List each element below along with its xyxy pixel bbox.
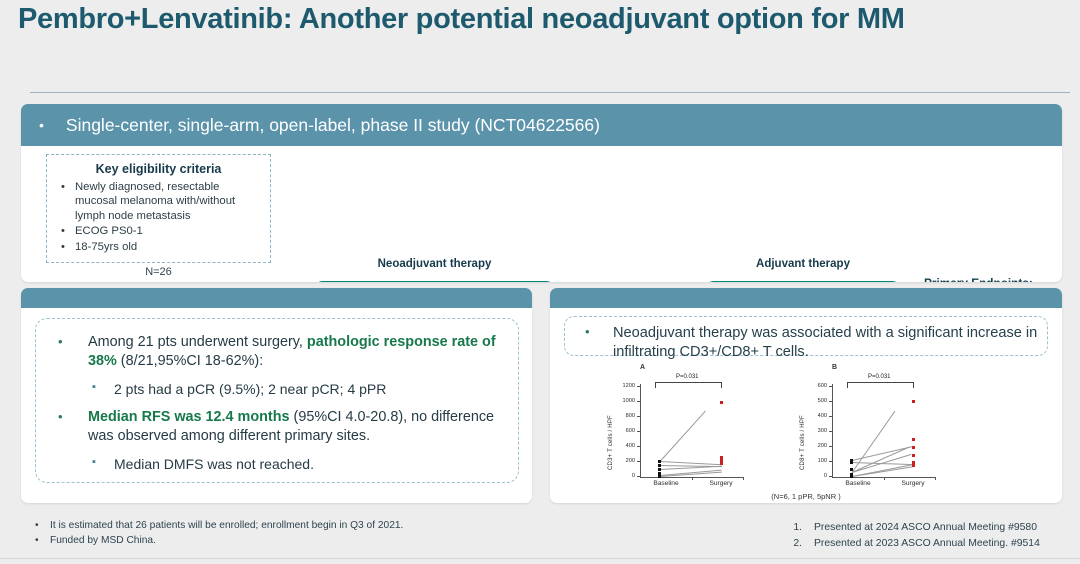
chart-cd3-scatter: CD3+ T cells / HPF 0 200 400 600 800 100…: [604, 372, 794, 500]
y-tick-label: 600: [806, 383, 827, 389]
immunohistochemistry-figure-group: A CD3+ T cells / HPF 0 200 400 600 800 1…: [556, 364, 1056, 500]
endpoints-block: Primary Endpoints: pCR Secondary Endpoin…: [924, 276, 1062, 282]
panel-accent-bar: [21, 288, 532, 308]
figure-panel-a-letter: A: [640, 364, 645, 371]
significance-bracket: [847, 382, 914, 388]
reference-text: Presented at 2023 ASCO Annual Meeting. #…: [814, 538, 1040, 549]
bottom-divider: [0, 558, 1080, 559]
list-item: 18-75yrs old: [55, 240, 262, 254]
eligibility-box: Key eligibility criteria Newly diagnosed…: [46, 154, 271, 263]
reference-number: 1.: [782, 520, 802, 536]
y-tick-label: 800: [614, 413, 635, 419]
data-point: [720, 401, 723, 404]
sample-size-label: N=26: [46, 266, 271, 278]
data-point: [720, 459, 723, 462]
y-tick-label: 1200: [614, 383, 635, 389]
bullet-icon: •: [39, 117, 44, 133]
data-point: [912, 400, 915, 403]
y-tick-label: 400: [806, 413, 827, 419]
list-item: Newly diagnosed, resectable mucosal mela…: [55, 180, 262, 223]
eligibility-list: Newly diagnosed, resectable mucosal mela…: [55, 180, 262, 254]
neoadjuvant-therapy-label: Neoadjuvant therapy: [314, 258, 555, 270]
chart-cd8-scatter: CD8+ T cells / HPF 0 100 200 300 400 500…: [796, 372, 986, 500]
reference-number: 2.: [782, 536, 802, 552]
data-point: [850, 459, 853, 462]
data-point: [912, 461, 915, 464]
clinical-results-panel: Among 21 pts underwent surgery, patholog…: [21, 288, 532, 503]
neoadjuvant-treatment-box: Pembrolizumab 200mg Q3W+ Lenvatinib 20mg…: [314, 281, 555, 282]
data-point: [850, 473, 853, 476]
results-content-box: Among 21 pts underwent surgery, patholog…: [35, 318, 519, 483]
results-bullet-list: Among 21 pts underwent surgery, patholog…: [36, 319, 518, 474]
y-tick-label: 600: [614, 428, 635, 434]
list-item: Among 21 pts underwent surgery, patholog…: [36, 333, 504, 371]
paired-link: [852, 464, 913, 477]
x-tick-label: Baseline: [644, 480, 688, 487]
y-tick-label: 0: [806, 473, 827, 479]
list-item: Median RFS was 12.4 months (95%CI 4.0-20…: [36, 408, 504, 446]
x-tick-label: Baseline: [836, 480, 880, 487]
y-tick-label: 200: [614, 458, 635, 464]
reference-text: Presented at 2024 ASCO Annual Meeting #9…: [814, 522, 1037, 533]
list-item: It is estimated that 26 patients will be…: [26, 519, 546, 534]
list-item: 1. Presented at 2024 ASCO Annual Meeting…: [782, 520, 1067, 536]
x-tickmark: [743, 478, 744, 480]
x-tickmark: [935, 478, 936, 480]
y-tick-label: 0: [614, 473, 635, 479]
biomarker-headline-box: Neoadjuvant therapy was associated with …: [564, 316, 1048, 356]
data-point: [658, 475, 661, 478]
primary-endpoints-label: Primary Endpoints:: [924, 276, 1033, 282]
figure-panel-b-letter: B: [832, 364, 837, 371]
data-point: [912, 464, 915, 467]
study-design-header: • Single-center, single-arm, open-label,…: [21, 104, 1062, 146]
y-tick-label: 500: [806, 398, 827, 404]
y-tick-label: 400: [614, 443, 635, 449]
y-axis: [832, 384, 833, 477]
adjuvant-therapy-label: Adjuvant therapy: [705, 258, 901, 270]
x-tick-label: Surgery: [699, 480, 743, 487]
list-item: 2 pts had a pCR (9.5%); 2 near pCR; 4 pP…: [36, 380, 504, 399]
y-tick-label: 200: [806, 443, 827, 449]
data-point: [720, 462, 723, 465]
data-point: [912, 446, 915, 449]
data-point: [658, 464, 661, 467]
title-divider: [30, 92, 1070, 93]
study-design-card: • Single-center, single-arm, open-label,…: [21, 104, 1062, 282]
y-tick-label: 100: [806, 458, 827, 464]
y-tick-label: 1000: [614, 398, 635, 404]
footnote-list-left: It is estimated that 26 patients will be…: [26, 519, 546, 549]
panel-accent-bar: [550, 288, 1062, 308]
reference-list: 1. Presented at 2024 ASCO Annual Meeting…: [782, 520, 1067, 551]
biomarker-headline: Neoadjuvant therapy was associated with …: [565, 317, 1047, 362]
x-tick-label: Surgery: [891, 480, 935, 487]
list-item: Median DMFS was not reached.: [36, 455, 504, 474]
result-2-highlight: Median RFS was 12.4 months: [88, 409, 290, 425]
data-point: [658, 468, 661, 471]
y-axis: [640, 384, 641, 477]
data-point: [658, 472, 661, 475]
result-1-prefix: Among 21 pts underwent surgery,: [88, 334, 307, 350]
data-point: [720, 456, 723, 459]
list-item: ECOG PS0-1: [55, 224, 262, 238]
figure-caption: (N=6, 1 pPR, 5pNR ): [556, 492, 1056, 501]
data-point: [658, 460, 661, 463]
x-tickmark: [884, 478, 885, 480]
result-1-suffix: (8/21,95%CI 18-62%):: [117, 353, 263, 369]
chart-cd3-pvalue: P=0.031: [676, 374, 699, 380]
eligibility-heading: Key eligibility criteria: [55, 162, 262, 176]
data-point: [912, 438, 915, 441]
list-item: Funded by MSD China.: [26, 534, 546, 549]
paired-link: [852, 462, 914, 465]
paired-link: [660, 411, 706, 462]
page-title: Pembro+Lenvatinib: Another potential neo…: [18, 4, 1028, 36]
study-design-header-text: Single-center, single-arm, open-label, p…: [66, 115, 600, 136]
list-item: 2. Presented at 2023 ASCO Annual Meeting…: [782, 536, 1067, 552]
y-tick-label: 300: [806, 428, 827, 434]
x-tickmark: [692, 478, 693, 480]
significance-bracket: [655, 382, 722, 388]
data-point: [850, 468, 853, 471]
data-point: [912, 454, 915, 457]
chart-cd8-pvalue: P=0.031: [868, 374, 891, 380]
adjuvant-treatment-box: Pembrolizumab 200mg Q3W×15 doses: [705, 281, 901, 282]
